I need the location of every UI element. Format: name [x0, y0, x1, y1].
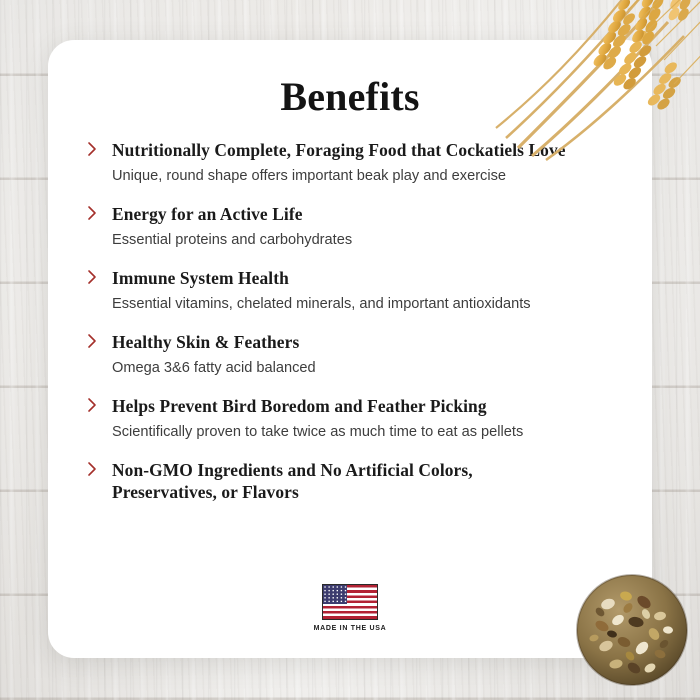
- product-benefits-graphic: Benefits Nutritionally Complete, Foragin…: [0, 0, 700, 700]
- benefit-subtext: Omega 3&6 fatty acid balanced: [112, 359, 622, 378]
- benefit-subtext: Essential proteins and carbohydrates: [112, 231, 622, 250]
- benefit-heading: Helps Prevent Bird Boredom and Feather P…: [112, 395, 622, 417]
- benefit-heading: Energy for an Active Life: [112, 203, 622, 225]
- benefit-subtext: Scientifically proven to take twice as m…: [112, 423, 622, 442]
- benefit-heading: Non-GMO Ingredients and No Artificial Co…: [112, 459, 542, 503]
- chevron-right-icon: [86, 396, 100, 414]
- list-item: Nutritionally Complete, Foraging Food th…: [80, 139, 622, 186]
- usa-flag-icon: [322, 584, 378, 620]
- chevron-right-icon: [86, 460, 100, 478]
- benefit-subtext: Unique, round shape offers important bea…: [112, 167, 622, 186]
- flag-canton: [323, 585, 347, 604]
- chevron-right-icon: [86, 204, 100, 222]
- list-item: Non-GMO Ingredients and No Artificial Co…: [80, 459, 622, 503]
- benefit-heading: Healthy Skin & Feathers: [112, 331, 622, 353]
- made-in-usa-badge: MADE IN THE USA: [48, 584, 652, 632]
- made-in-usa-label: MADE IN THE USA: [314, 625, 387, 632]
- chevron-right-icon: [86, 268, 100, 286]
- list-item: Healthy Skin & Feathers Omega 3&6 fatty …: [80, 331, 622, 378]
- list-item: Immune System Health Essential vitamins,…: [80, 267, 622, 314]
- chevron-right-icon: [86, 140, 100, 158]
- list-item: Energy for an Active Life Essential prot…: [80, 203, 622, 250]
- page-title: Benefits: [48, 40, 652, 120]
- benefits-card: Benefits Nutritionally Complete, Foragin…: [48, 40, 652, 658]
- benefit-heading: Nutritionally Complete, Foraging Food th…: [112, 139, 622, 161]
- benefits-list: Nutritionally Complete, Foraging Food th…: [48, 139, 652, 504]
- chevron-right-icon: [86, 332, 100, 350]
- list-item: Helps Prevent Bird Boredom and Feather P…: [80, 395, 622, 442]
- benefit-subtext: Essential vitamins, chelated minerals, a…: [112, 295, 622, 314]
- benefit-heading: Immune System Health: [112, 267, 622, 289]
- flag-stars: [323, 585, 347, 604]
